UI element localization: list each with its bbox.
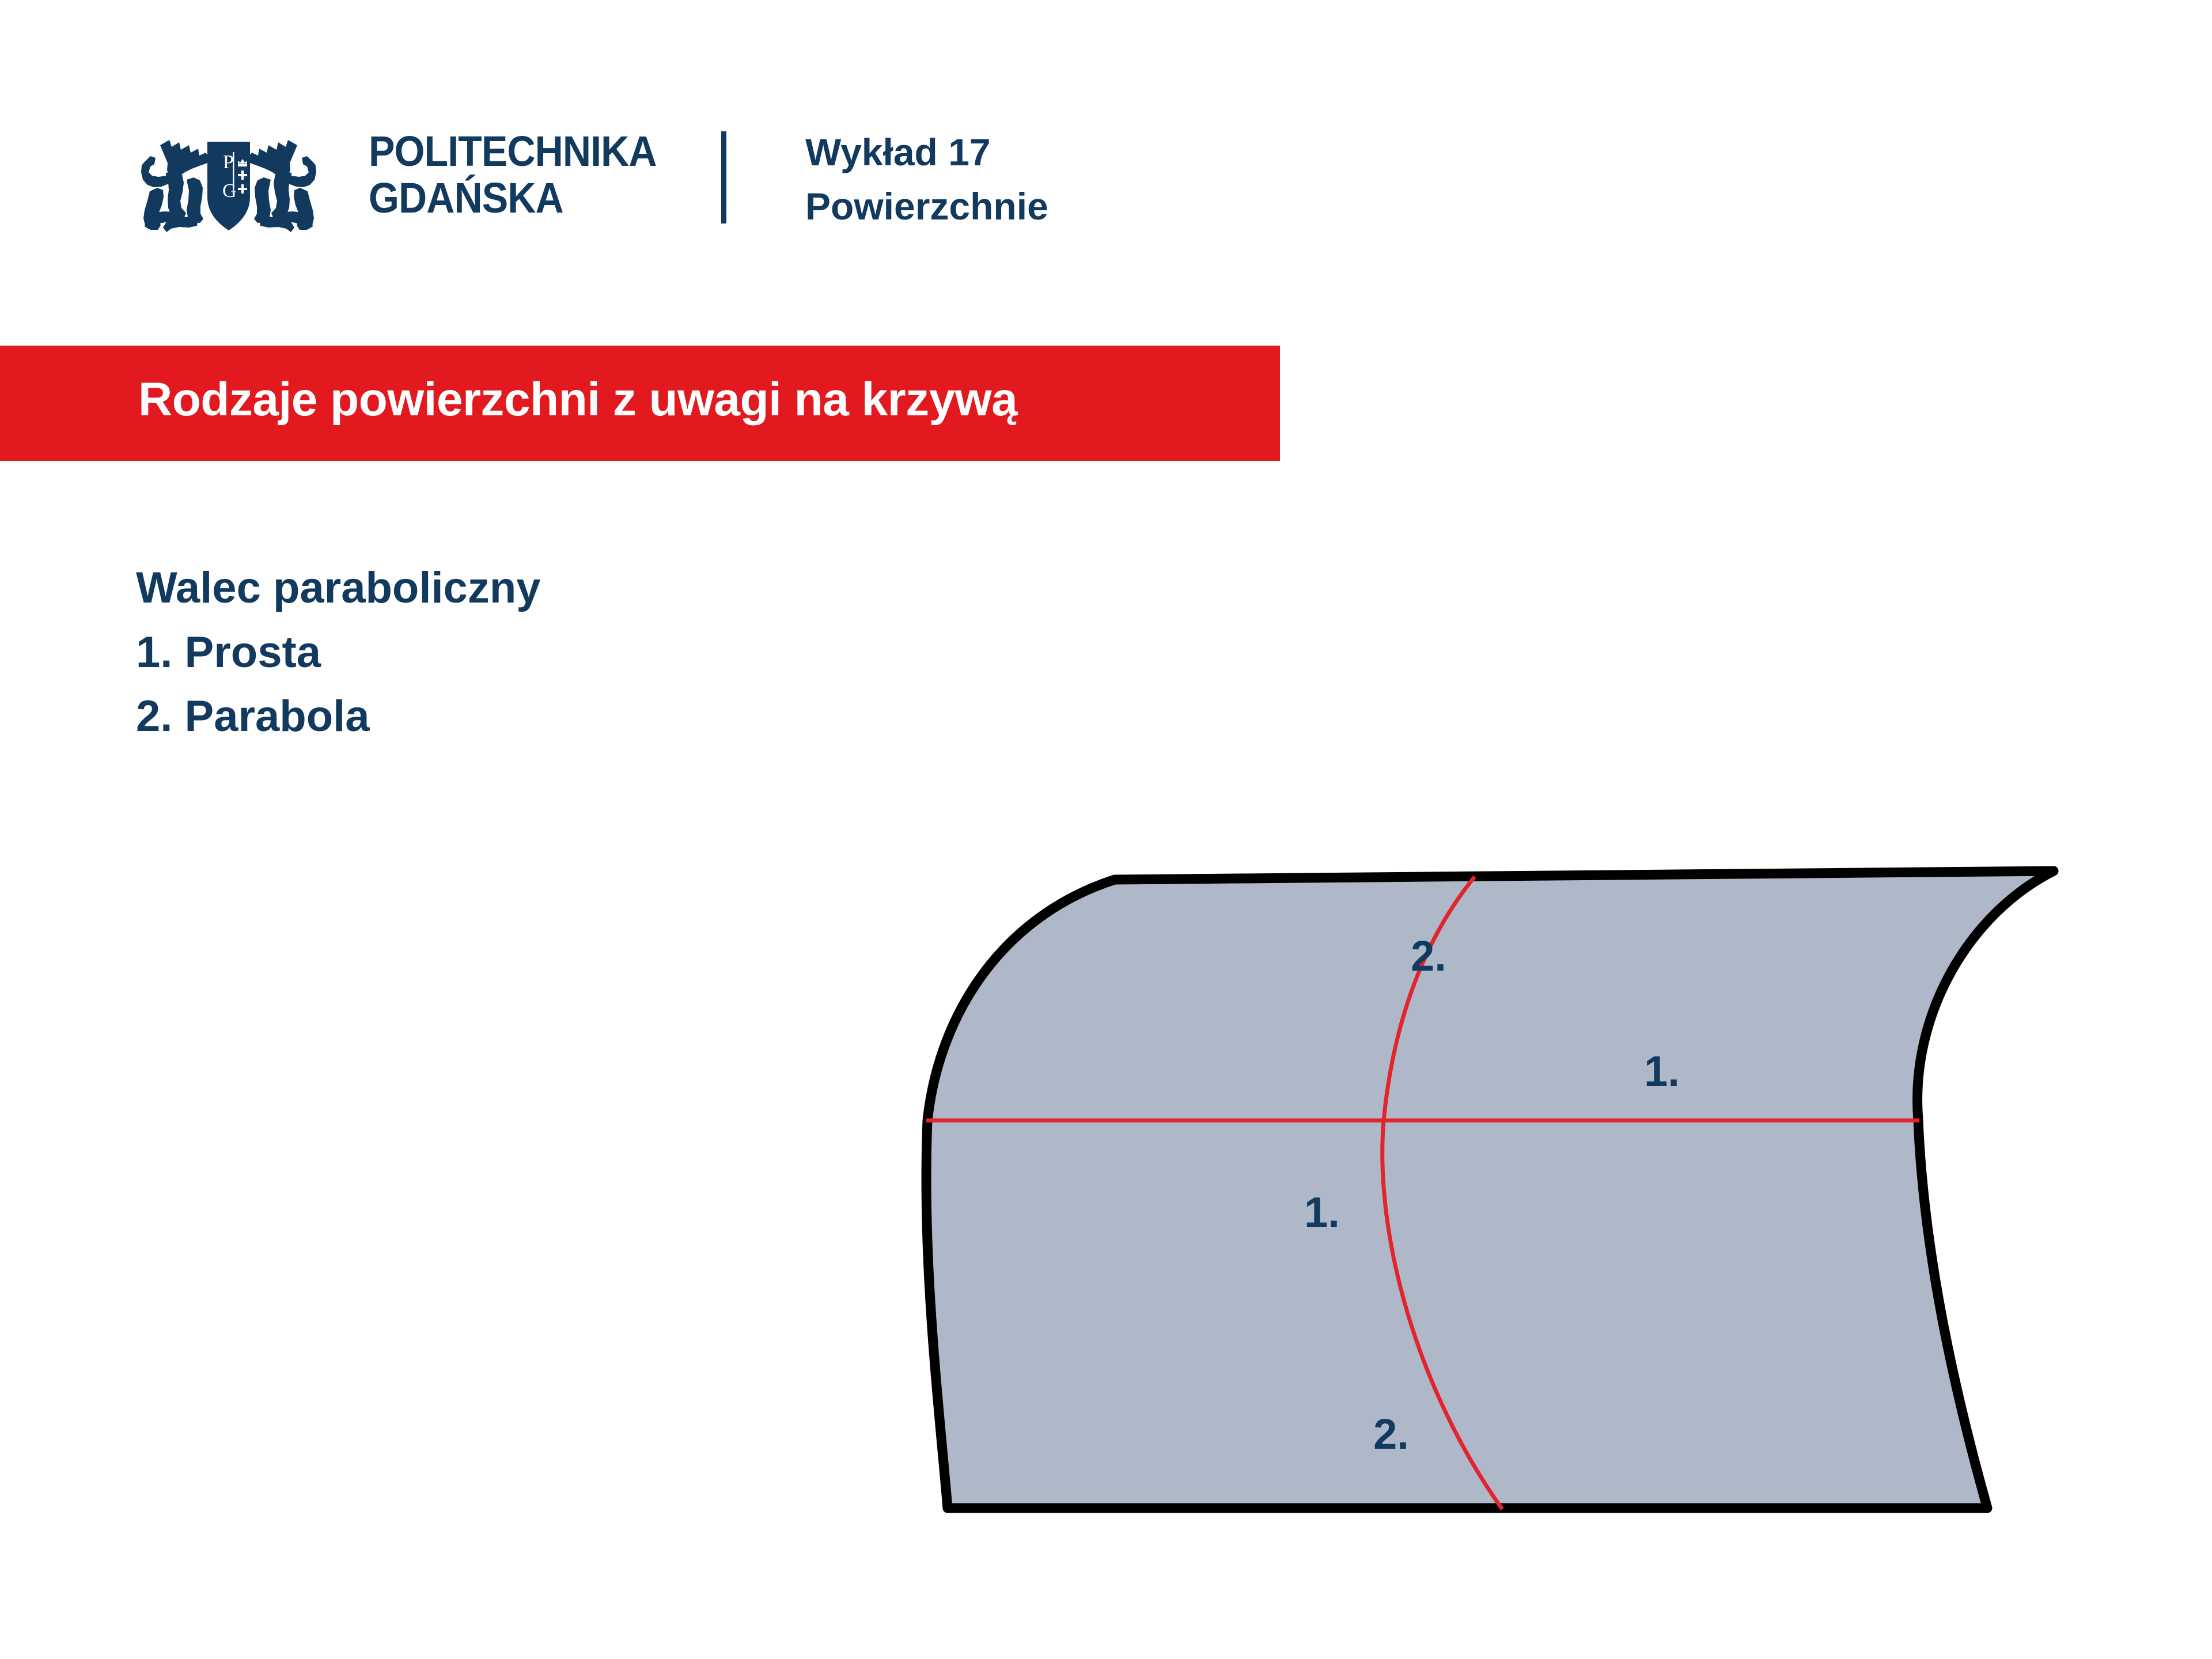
figure-label-2-top: 2. [1411,932,1446,980]
parabolic-cylinder-figure: 2. 1. 1. 2. [887,824,2212,1550]
wordmark-line-2: GDAŃSKA [369,175,708,221]
vertical-divider-icon [721,131,726,224]
content-text-block: Walec paraboliczny 1. Prosta 2. Parabola [136,556,541,749]
content-heading: Walec paraboliczny [136,556,541,620]
page-header: P G POLITECHNIKA GDAŃSKA Wykład 17 [0,0,2212,323]
lecture-number: Wykład 17 [805,126,1439,180]
section-banner-title: Rodzaje powierzchni z uwagi na krzywą [138,376,1017,423]
svg-text:P: P [223,151,234,173]
content-item-1: 1. Prosta [136,620,541,685]
surface-fill [926,871,2054,1508]
figure-label-2-bottom: 2. [1373,1410,1409,1458]
wordmark-line-1: POLITECHNIKA [369,128,708,175]
svg-text:G: G [222,180,237,202]
figure-label-1-left: 1. [1304,1188,1340,1236]
figure-label-1-right: 1. [1644,1047,1680,1095]
university-wordmark: POLITECHNIKA GDAŃSKA [369,128,737,222]
content-item-2: 2. Parabola [136,684,541,749]
lecture-title-block: Wykład 17 Powierzchnie [805,126,1439,233]
pg-crest-icon: P G [134,120,324,235]
lecture-subject: Powierzchnie [805,180,1439,234]
